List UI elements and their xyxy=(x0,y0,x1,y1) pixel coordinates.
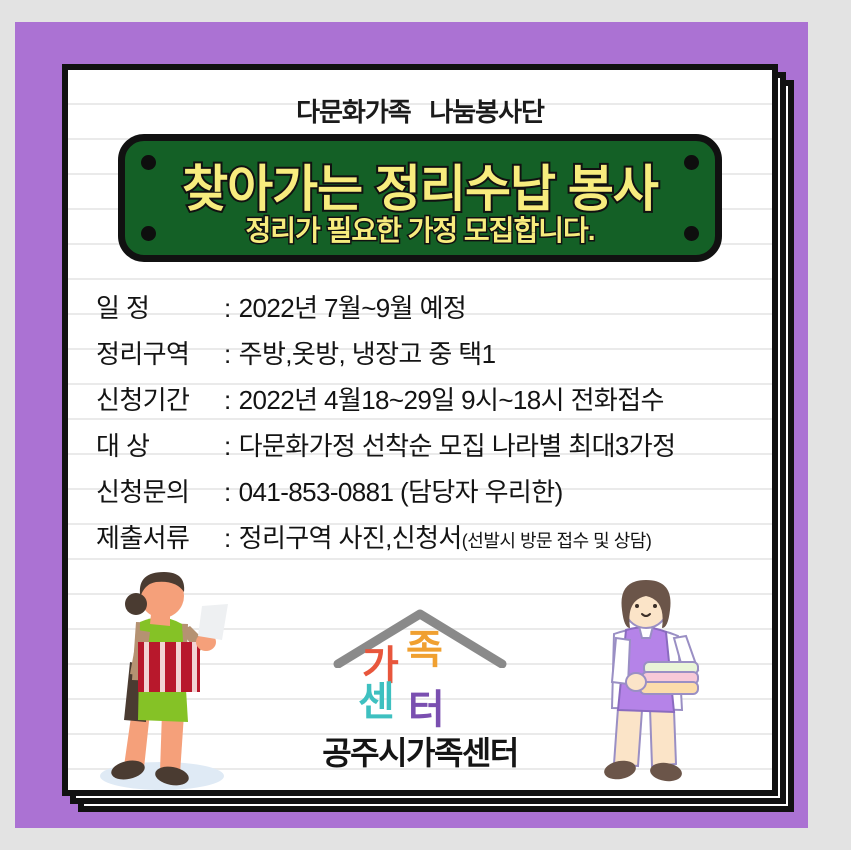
organization-name: 공주시가족센터 xyxy=(270,728,570,774)
poster-content: 다문화가족 나눔봉사단 찾아가는 정리수납 봉사 정리가 필요한 가정 모집합니… xyxy=(68,70,772,790)
family-center-logo-mark: 가 족 센 터 xyxy=(330,608,510,726)
logo-syllable-sen: 센 xyxy=(358,682,393,722)
info-label-application-period: 신청기간 xyxy=(96,380,224,417)
info-row-target: 대 상 : 다문화가정 선착순 모집 나라별 최대3가정 xyxy=(96,426,756,461)
info-list: 일 정 : 2022년 7월~9월 예정 정리구역 : 주방,옷방, 냉장고 중… xyxy=(96,288,756,564)
info-note-documents: (선발시 방문 접수 및 상담) xyxy=(462,527,652,553)
info-row-application-period: 신청기간 : 2022년 4월18~29일 9시~18시 전화접수 xyxy=(96,380,756,415)
logo-syllable-teo: 터 xyxy=(408,690,443,730)
board-sub-title: 정리가 필요한 가정 모집합니다. xyxy=(125,209,715,249)
info-label-documents: 제출서류 xyxy=(96,518,224,555)
info-colon-contact: : xyxy=(224,477,231,508)
info-label-area: 정리구역 xyxy=(96,334,224,371)
info-label-target: 대 상 xyxy=(96,426,224,463)
info-row-contact: 신청문의 : 041-853-0881 (담당자 우리한) xyxy=(96,472,756,507)
info-value-documents: 정리구역 사진,신청서 xyxy=(239,518,462,555)
info-value-application-period: 2022년 4월18~29일 9시~18시 전화접수 xyxy=(239,380,664,417)
info-label-schedule: 일 정 xyxy=(96,288,224,325)
logo-syllable-jok: 족 xyxy=(406,630,441,670)
poster-root: 다문화가족 나눔봉사단 찾아가는 정리수납 봉사 정리가 필요한 가정 모집합니… xyxy=(0,0,851,850)
woman-carrying-red-folders-illustration xyxy=(90,570,240,790)
page-title: 다문화가족 나눔봉사단 xyxy=(68,92,772,129)
info-row-schedule: 일 정 : 2022년 7월~9월 예정 xyxy=(96,288,756,323)
info-row-documents: 제출서류 : 정리구역 사진,신청서 (선발시 방문 접수 및 상담) xyxy=(96,518,756,553)
poster-paper-sheet: 다문화가족 나눔봉사단 찾아가는 정리수납 봉사 정리가 필요한 가정 모집합니… xyxy=(62,64,778,796)
info-value-area: 주방,옷방, 냉장고 중 택1 xyxy=(239,334,496,371)
info-colon-area: : xyxy=(224,339,231,370)
green-sign-board: 찾아가는 정리수납 봉사 정리가 필요한 가정 모집합니다. xyxy=(118,134,722,262)
organization-logo-block: 가 족 센 터 공주시가족센터 xyxy=(270,608,570,774)
info-value-target: 다문화가정 선착순 모집 나라별 최대3가정 xyxy=(239,426,676,463)
info-label-contact: 신청문의 xyxy=(96,472,224,509)
woman-carrying-folded-laundry-illustration xyxy=(588,578,718,790)
info-colon-target: : xyxy=(224,431,231,462)
info-colon-schedule: : xyxy=(224,293,231,324)
info-value-contact: 041-853-0881 (담당자 우리한) xyxy=(239,472,563,509)
info-row-area: 정리구역 : 주방,옷방, 냉장고 중 택1 xyxy=(96,334,756,369)
info-colon-application-period: : xyxy=(224,385,231,416)
info-value-schedule: 2022년 7월~9월 예정 xyxy=(239,288,467,325)
info-colon-documents: : xyxy=(224,523,231,554)
